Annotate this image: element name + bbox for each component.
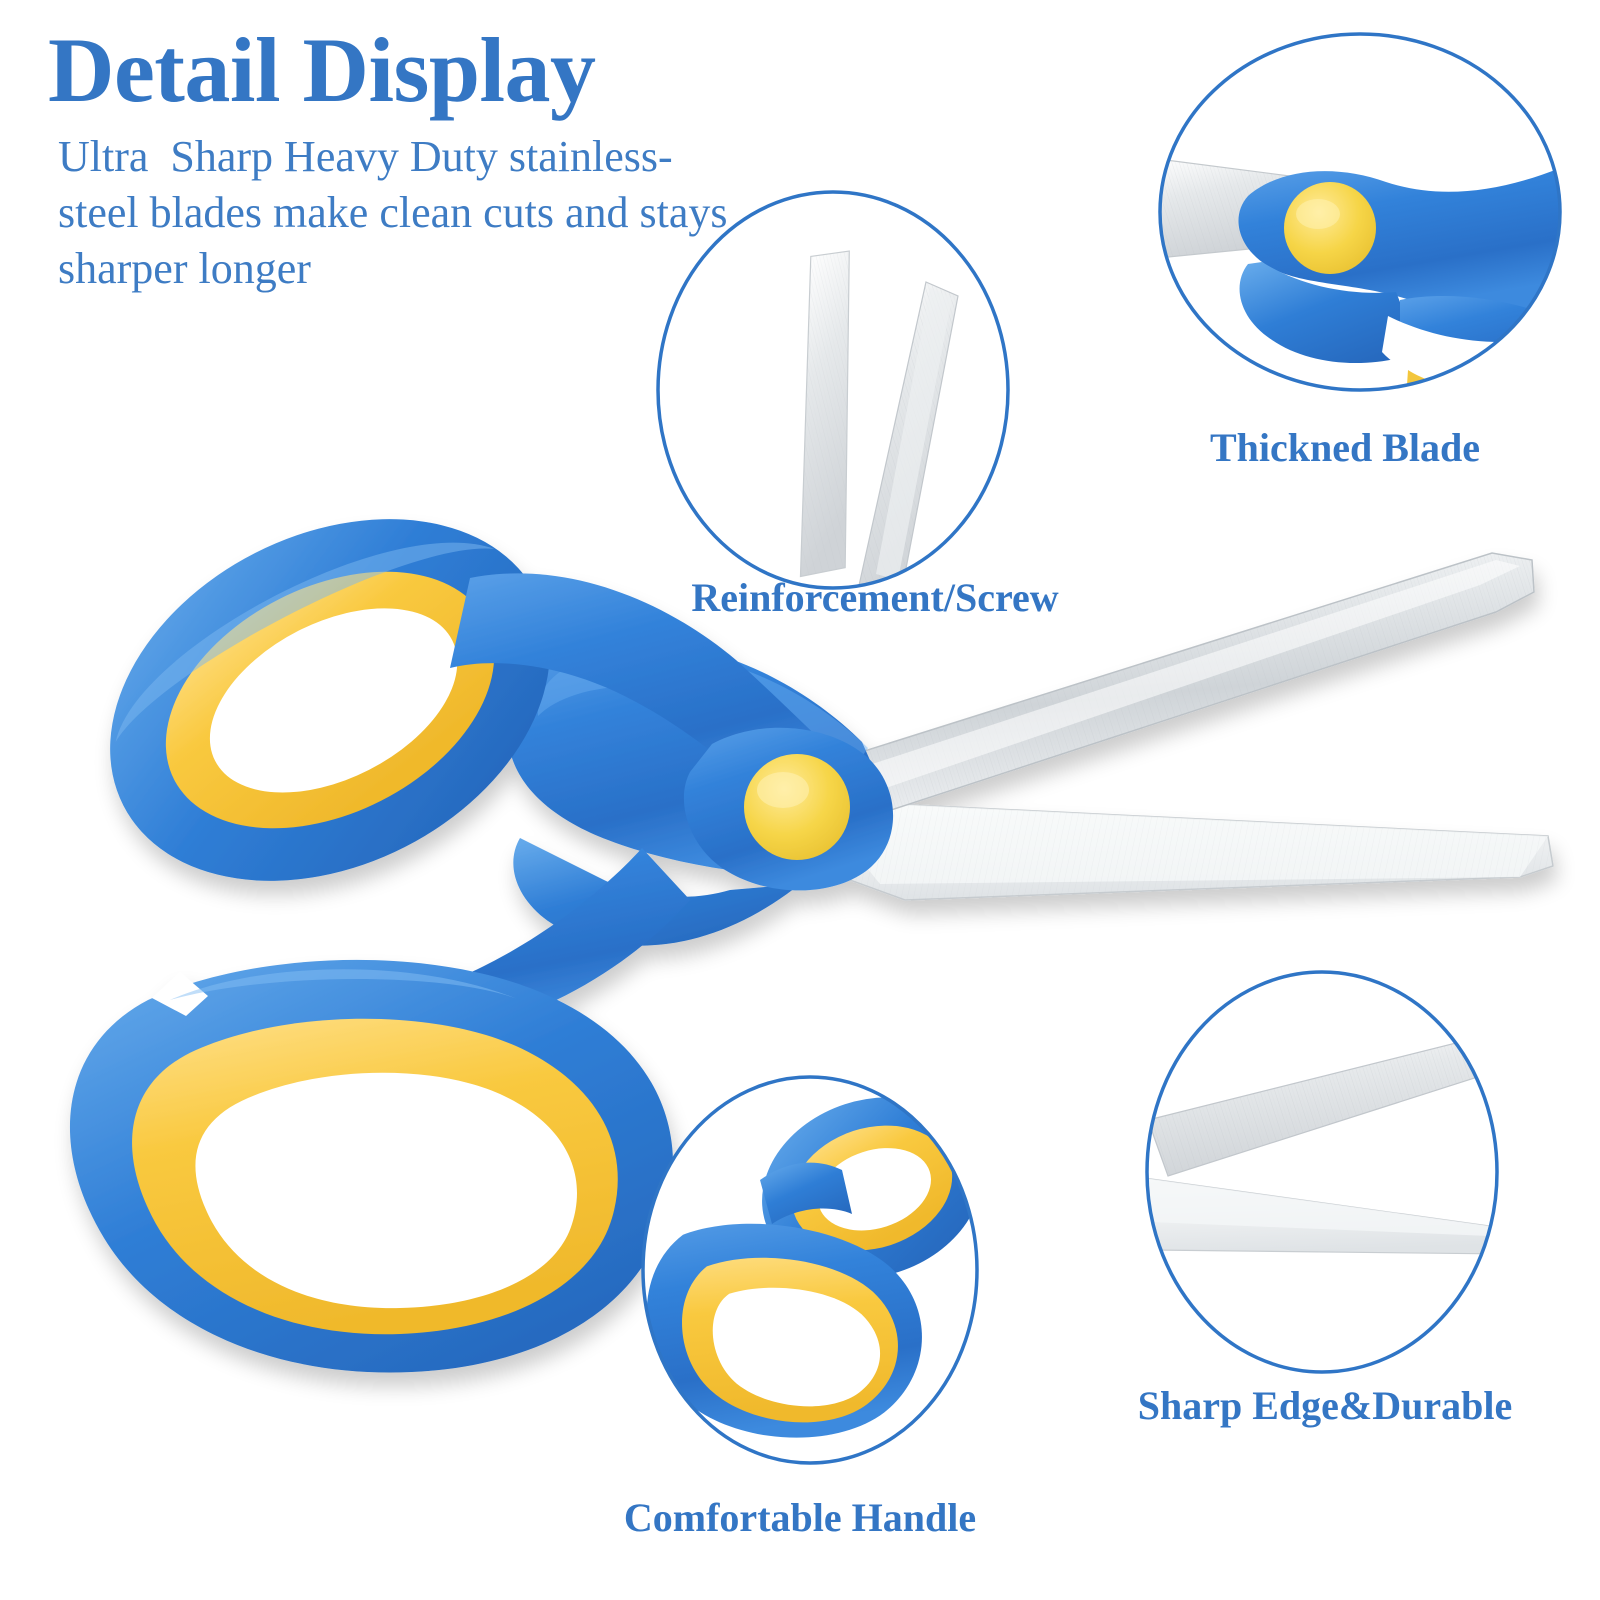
callout-label-thickened-blade: Thickned Blade bbox=[1170, 424, 1520, 471]
lower-shank bbox=[513, 838, 800, 946]
header-block: Detail Display Ultra Sharp Heavy Duty st… bbox=[48, 22, 808, 298]
detail-circle-sharp-edge bbox=[1140, 965, 1512, 1380]
callout-label-sharp-edge-durable: Sharp Edge&Durable bbox=[1075, 1382, 1575, 1429]
lower-arm bbox=[300, 848, 690, 1036]
pivot-head bbox=[684, 728, 893, 891]
callout-label-reinforcement-screw: Reinforcement/Screw bbox=[640, 574, 1110, 621]
callout-label-comfortable-handle: Comfortable Handle bbox=[570, 1494, 1030, 1541]
page-subtitle: Ultra Sharp Heavy Duty stainless-steel b… bbox=[58, 129, 748, 298]
upper-handle-loop bbox=[48, 448, 611, 953]
detail-circle-comfortable-handle bbox=[631, 1070, 1006, 1470]
infographic-canvas: Detail Display Ultra Sharp Heavy Duty st… bbox=[0, 0, 1600, 1600]
page-title: Detail Display bbox=[48, 22, 808, 119]
detail-circle-thickened-blade bbox=[1150, 30, 1580, 400]
pivot-screw bbox=[744, 754, 850, 860]
lower-blade bbox=[812, 800, 1553, 900]
upper-shank bbox=[508, 642, 886, 876]
lower-handle-loop bbox=[70, 960, 673, 1373]
